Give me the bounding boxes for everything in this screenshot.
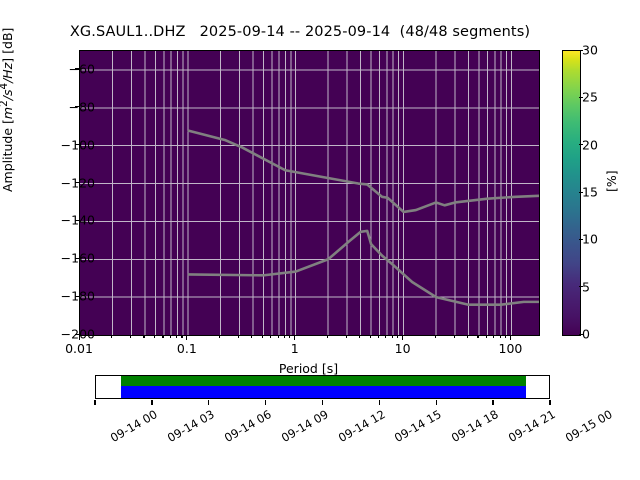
x-tick-mark-minor	[278, 335, 279, 338]
x-tick-mark-minor	[143, 335, 144, 338]
y-tick-label: −80	[69, 99, 95, 114]
colorbar-tick-mark	[579, 286, 583, 287]
x-tick-mark-minor	[454, 335, 455, 338]
timeline-tick-mark	[322, 400, 323, 405]
x-tick-mark-minor	[170, 335, 171, 338]
x-tick-mark-major	[402, 335, 403, 340]
timeline-tick-mark	[492, 400, 493, 405]
ppsd-svg	[80, 51, 539, 335]
timeline-tick-label: 09-14 03	[165, 407, 217, 445]
x-tick-mark-minor	[130, 335, 131, 338]
x-tick-mark-minor	[262, 335, 263, 338]
x-tick-mark-minor	[359, 335, 360, 338]
data-coverage-upper	[121, 376, 526, 386]
x-tick-label: 1	[291, 341, 299, 356]
timeline-tick-label: 09-14 21	[506, 407, 558, 445]
y-tick-mark	[75, 68, 79, 69]
colorbar-tick-label: 0	[582, 327, 590, 342]
x-tick-mark-minor	[251, 335, 252, 338]
timeline-tick-label: 09-14 12	[335, 407, 387, 445]
ppsd-canvas	[80, 51, 539, 335]
y-tick-mark	[75, 144, 79, 145]
x-tick-label: 0.01	[65, 341, 93, 356]
x-tick-mark-minor	[486, 335, 487, 338]
x-tick-mark-minor	[154, 335, 155, 338]
x-tick-mark-major	[294, 335, 295, 340]
timeline-tick-mark	[208, 400, 209, 405]
timeline-tick-label: 09-14 00	[108, 407, 160, 445]
timeline-tick-label: 09-14 15	[392, 407, 444, 445]
x-tick-mark-minor	[505, 335, 506, 338]
x-tick-mark-minor	[284, 335, 285, 338]
timeline-tick-mark	[436, 400, 437, 405]
x-tick-mark-minor	[289, 335, 290, 338]
timeline-tick-mark	[549, 400, 550, 405]
x-tick-label: 100	[499, 341, 523, 356]
x-tick-label: 10	[395, 341, 411, 356]
colorbar-tick-label: 15	[582, 185, 598, 200]
page-title: XG.SAUL1..DHZ 2025-09-14 -- 2025-09-14 (…	[0, 24, 600, 40]
x-tick-mark-minor	[176, 335, 177, 338]
y-axis-label: Amplitude [m2/s4/Hz] [dB]	[0, 28, 15, 192]
timeline-tick-mark	[265, 400, 266, 405]
timeline-tick-label: 09-14 18	[449, 407, 501, 445]
colorbar-tick-label: 25	[582, 90, 598, 105]
colorbar-tick-mark	[579, 144, 583, 145]
colorbar-tick-label: 20	[582, 137, 598, 152]
x-tick-mark-minor	[370, 335, 371, 338]
colorbar-tick-mark	[579, 97, 583, 98]
y-tick-mark	[75, 106, 79, 107]
ppsd-plot-area[interactable]	[79, 50, 540, 336]
x-tick-mark-minor	[435, 335, 436, 338]
x-tick-mark-minor	[500, 335, 501, 338]
timeline-tick-mark	[151, 400, 152, 405]
timeline-axis[interactable]	[95, 375, 550, 399]
x-tick-mark-minor	[477, 335, 478, 338]
x-tick-mark-minor	[493, 335, 494, 338]
timeline-tick-label: 09-15 00	[563, 407, 615, 445]
colorbar-tick-mark	[579, 334, 583, 335]
x-tick-mark-minor	[378, 335, 379, 338]
x-tick-mark-major	[186, 335, 187, 340]
y-tick-mark	[75, 182, 79, 183]
colorbar[interactable]	[562, 50, 581, 336]
x-tick-mark-minor	[385, 335, 386, 338]
timeline-tick-label: 09-14 09	[279, 407, 331, 445]
x-tick-mark-minor	[467, 335, 468, 338]
x-tick-mark-minor	[327, 335, 328, 338]
x-axis-label: Period [s]	[79, 361, 538, 376]
colorbar-tick-mark	[579, 50, 583, 51]
x-tick-mark-minor	[270, 335, 271, 338]
x-tick-mark-minor	[397, 335, 398, 338]
colorbar-tick-mark	[579, 239, 583, 240]
colorbar-label: [%]	[604, 170, 619, 192]
x-tick-mark-minor	[392, 335, 393, 338]
x-tick-mark-minor	[238, 335, 239, 338]
data-coverage-lower	[121, 386, 526, 398]
y-tick-mark	[75, 296, 79, 297]
x-tick-label: 0.1	[177, 341, 197, 356]
x-tick-mark-major	[510, 335, 511, 340]
timeline-tick-mark	[379, 400, 380, 405]
y-tick-mark	[75, 220, 79, 221]
y-tick-mark	[75, 258, 79, 259]
y-tick-label: −60	[69, 61, 95, 76]
x-tick-mark-minor	[346, 335, 347, 338]
colorbar-tick-label: 10	[582, 232, 598, 247]
x-tick-mark-minor	[162, 335, 163, 338]
timeline-tick-mark	[94, 400, 95, 405]
colorbar-tick-label: 5	[582, 279, 590, 294]
x-tick-mark-minor	[181, 335, 182, 338]
x-tick-mark-minor	[219, 335, 220, 338]
x-tick-mark-major	[79, 335, 80, 340]
colorbar-tick-mark	[579, 192, 583, 193]
timeline-tick-label: 09-14 06	[222, 407, 274, 445]
x-tick-mark-minor	[111, 335, 112, 338]
colorbar-tick-label: 30	[582, 43, 598, 58]
